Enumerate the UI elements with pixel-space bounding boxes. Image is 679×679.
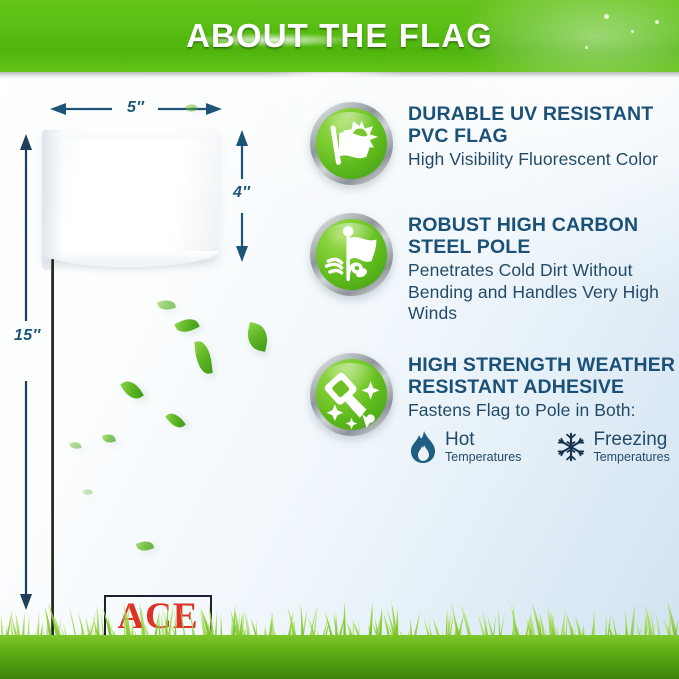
leaf-icon bbox=[136, 539, 154, 554]
leaf-icon bbox=[120, 377, 144, 403]
feature-text: ROBUST HIGH CARBON STEEL POLE Penetrates… bbox=[393, 211, 679, 325]
feature-description: Fastens Flag to Pole in Both: bbox=[408, 400, 679, 422]
temperature-text: Hot Temperatures bbox=[438, 430, 521, 464]
temperature-item-freezing: Freezing Temperatures bbox=[556, 430, 669, 464]
feature-description: High Visibility Fluorescent Color bbox=[408, 149, 679, 171]
feature-item: HIGH STRENGTH WEATHER RESISTANT ADHESIVE… bbox=[310, 351, 679, 465]
feature-title: ROBUST HIGH CARBON STEEL POLE bbox=[408, 214, 679, 258]
pole-dimension-arrow bbox=[16, 131, 36, 613]
temperature-sub: Temperatures bbox=[593, 450, 669, 464]
width-label: 5″ bbox=[127, 99, 144, 117]
feature-text: DURABLE UV RESISTANT PVC FLAG High Visib… bbox=[393, 100, 679, 171]
flag-diagram: 5″ 4″ 15″ bbox=[0, 79, 300, 599]
flame-icon bbox=[408, 430, 438, 464]
pole-label: 15″ bbox=[14, 327, 41, 345]
feature-description: Penetrates Cold Dirt Without Bending and… bbox=[408, 260, 679, 325]
feature-icon-badge bbox=[310, 353, 393, 436]
feature-icon-badge bbox=[310, 102, 393, 185]
page-title: ABOUT THE FLAG bbox=[0, 0, 679, 72]
header-divider bbox=[0, 72, 679, 79]
feature-icon-badge bbox=[310, 213, 393, 296]
leaf-icon bbox=[82, 488, 92, 496]
leaf-icon bbox=[165, 410, 186, 432]
feature-text: HIGH STRENGTH WEATHER RESISTANT ADHESIVE… bbox=[393, 351, 679, 465]
flag-fold-shadow bbox=[42, 130, 62, 270]
flag-sun-icon bbox=[310, 102, 393, 185]
leaf-icon bbox=[102, 433, 116, 445]
flag-pole-wind-icon bbox=[310, 213, 393, 296]
feature-title: HIGH STRENGTH WEATHER RESISTANT ADHESIVE bbox=[408, 354, 679, 398]
glue-bottle-icon bbox=[310, 353, 393, 436]
temperature-main: Freezing bbox=[593, 430, 669, 449]
leaf-icon bbox=[157, 298, 176, 312]
leaf-icon bbox=[245, 322, 271, 352]
feature-item: ROBUST HIGH CARBON STEEL POLE Penetrates… bbox=[310, 211, 679, 325]
temperature-text: Freezing Temperatures bbox=[586, 430, 669, 464]
infographic-root: ABOUT THE FLAG 5″ 4″ 15″ bbox=[0, 0, 679, 679]
feature-title: DURABLE UV RESISTANT PVC FLAG bbox=[408, 103, 679, 147]
flag-cloth bbox=[42, 130, 218, 260]
temperature-row: Hot Temperatures bbox=[408, 430, 679, 464]
temperature-item-hot: Hot Temperatures bbox=[408, 430, 521, 464]
feature-list: DURABLE UV RESISTANT PVC FLAG High Visib… bbox=[310, 100, 679, 464]
height-label: 4″ bbox=[233, 184, 250, 202]
grass-band bbox=[0, 593, 679, 679]
leaf-icon bbox=[69, 441, 81, 450]
leaf-icon bbox=[194, 340, 212, 374]
leaf-icon bbox=[174, 315, 199, 336]
temperature-main: Hot bbox=[445, 430, 521, 449]
snowflake-icon bbox=[556, 430, 586, 464]
temperature-sub: Temperatures bbox=[445, 450, 521, 464]
feature-item: DURABLE UV RESISTANT PVC FLAG High Visib… bbox=[310, 100, 679, 185]
grass-base bbox=[0, 635, 679, 679]
